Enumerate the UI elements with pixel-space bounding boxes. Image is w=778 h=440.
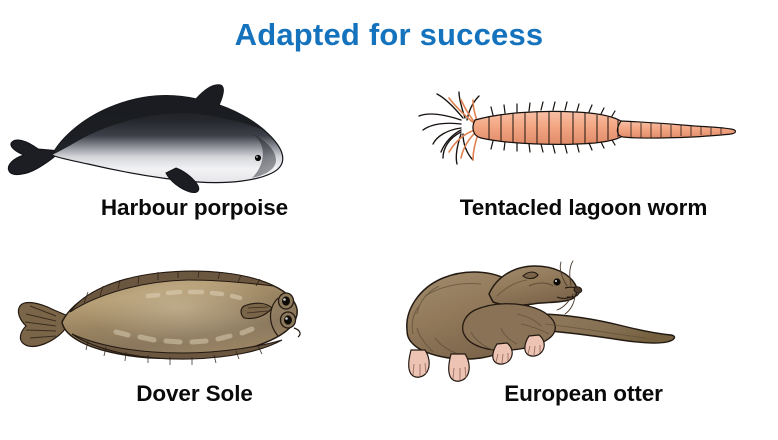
european-otter-illustration — [389, 258, 778, 388]
otter-eye — [553, 278, 560, 285]
sole-lower-pupil — [284, 315, 292, 324]
sole-lower-eye-highlight — [285, 317, 288, 320]
worm-tentacles — [419, 92, 479, 164]
porpoise-eye-highlight — [256, 156, 258, 158]
item-label-harbour-porpoise: Harbour porpoise — [0, 195, 389, 221]
item-label-european-otter: European otter — [389, 381, 778, 407]
harbour-porpoise-illustration — [0, 72, 389, 202]
item-tentacled-lagoon-worm: Tentacled lagoon worm — [389, 72, 778, 247]
sole-upper-eye-highlight — [283, 298, 286, 301]
page-title: Adapted for success — [0, 16, 778, 53]
item-dover-sole: Dover Sole — [0, 258, 389, 433]
sole-mouth — [294, 328, 300, 337]
worm-posterior-body — [617, 121, 735, 138]
slide-canvas: Adapted for success — [0, 0, 778, 440]
sole-upper-pupil — [282, 296, 290, 305]
porpoise-eye — [255, 155, 261, 161]
porpoise-tail-fluke — [8, 140, 60, 175]
otter-tail — [537, 314, 674, 343]
tentacled-lagoon-worm-illustration — [389, 72, 778, 202]
item-label-dover-sole: Dover Sole — [0, 381, 389, 407]
item-harbour-porpoise: Harbour porpoise — [0, 72, 389, 247]
otter-eye-highlight — [555, 280, 557, 282]
item-label-tentacled-lagoon-worm: Tentacled lagoon worm — [389, 195, 778, 221]
dover-sole-illustration — [0, 258, 389, 388]
item-european-otter: European otter — [389, 258, 778, 433]
otter-nose — [574, 287, 582, 293]
